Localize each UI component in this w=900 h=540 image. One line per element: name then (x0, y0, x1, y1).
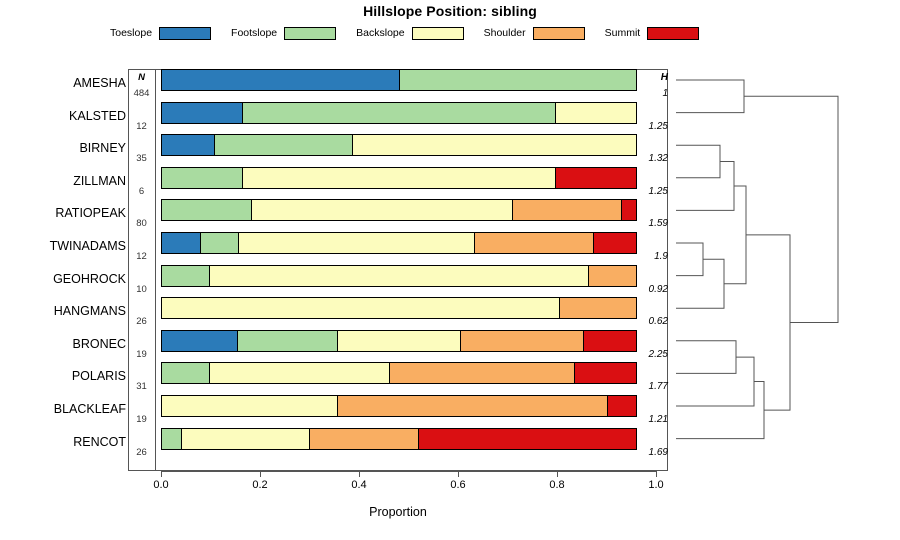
bar-segment-toeslope[interactable] (162, 70, 400, 90)
stacked-bar[interactable] (161, 199, 637, 221)
bar-segment-shoulder[interactable] (589, 266, 636, 286)
h-value: 1.21 (637, 414, 668, 425)
x-axis-tick-label: 0.6 (438, 479, 478, 491)
h-value: 1 (637, 88, 668, 99)
bar-row (161, 362, 637, 384)
bar-row (161, 330, 637, 352)
bar-segment-shoulder[interactable] (560, 298, 636, 318)
x-axis-tick (260, 471, 261, 477)
taxon-label: RATIOPEAK (6, 206, 126, 220)
bar-segment-backslope[interactable] (243, 168, 556, 188)
x-axis-tick (557, 471, 558, 477)
x-axis-tick-label: 0.0 (141, 479, 181, 491)
legend-label-backslope: Backslope (356, 27, 404, 39)
taxon-label: TWINADAMS (6, 239, 126, 253)
h-value: 1.9 (637, 251, 668, 262)
bar-segment-shoulder[interactable] (338, 396, 608, 416)
bar-segment-footslope[interactable] (400, 70, 637, 90)
bar-row (161, 134, 637, 156)
bar-segment-toeslope[interactable] (162, 233, 201, 253)
legend-label-shoulder: Shoulder (484, 27, 526, 39)
bar-row (161, 167, 637, 189)
h-value: 1.69 (637, 447, 668, 458)
bar-segment-backslope[interactable] (338, 331, 461, 351)
bar-row (161, 69, 637, 91)
legend-item-summit[interactable]: Summit (605, 27, 700, 40)
n-value: 80 (128, 218, 155, 229)
bar-segment-shoulder[interactable] (513, 200, 622, 220)
legend-swatch-toeslope (159, 27, 211, 40)
stacked-bar[interactable] (161, 69, 637, 91)
h-value: 0.62 (637, 316, 668, 327)
bar-segment-toeslope[interactable] (162, 103, 243, 123)
x-axis-tick (656, 471, 657, 477)
h-value: 1.25 (637, 121, 668, 132)
n-column-divider (155, 69, 156, 471)
n-value: 12 (128, 121, 155, 132)
stacked-bars (161, 69, 637, 471)
bar-row (161, 102, 637, 124)
legend: Toeslope Footslope Backslope Shoulder Su… (110, 24, 790, 42)
taxon-label: ZILLMAN (6, 174, 126, 188)
stacked-bar[interactable] (161, 297, 637, 319)
n-column-header: N (128, 72, 155, 83)
legend-item-toeslope[interactable]: Toeslope (110, 27, 211, 40)
bar-segment-footslope[interactable] (162, 363, 210, 383)
legend-item-footslope[interactable]: Footslope (231, 27, 336, 40)
bar-segment-shoulder[interactable] (475, 233, 594, 253)
bar-segment-backslope[interactable] (210, 266, 589, 286)
taxon-label: KALSTED (6, 109, 126, 123)
legend-swatch-footslope (284, 27, 336, 40)
bar-row (161, 232, 637, 254)
x-axis: 0.00.20.40.60.81.0 (128, 471, 668, 485)
legend-item-shoulder[interactable]: Shoulder (484, 27, 585, 40)
stacked-bar[interactable] (161, 330, 637, 352)
legend-item-backslope[interactable]: Backslope (356, 27, 463, 40)
bar-segment-shoulder[interactable] (461, 331, 584, 351)
taxon-label: GEOHROCK (6, 272, 126, 286)
n-value: 484 (128, 88, 155, 99)
bar-segment-backslope[interactable] (239, 233, 475, 253)
x-axis-tick (458, 471, 459, 477)
x-axis-tick-label: 1.0 (636, 479, 676, 491)
h-value: 1.59 (637, 218, 668, 229)
n-value: 10 (128, 284, 155, 295)
bar-segment-shoulder[interactable] (310, 429, 419, 449)
x-axis-tick (359, 471, 360, 477)
x-axis-title: Proportion (128, 505, 668, 519)
stacked-bar[interactable] (161, 265, 637, 287)
bar-segment-footslope[interactable] (162, 429, 182, 449)
bar-segment-toeslope[interactable] (162, 331, 238, 351)
legend-swatch-shoulder (533, 27, 585, 40)
legend-swatch-summit (647, 27, 699, 40)
bar-segment-toeslope[interactable] (162, 135, 215, 155)
bar-row (161, 199, 637, 221)
bar-segment-summit[interactable] (419, 429, 636, 449)
bar-row (161, 297, 637, 319)
x-axis-tick-label: 0.2 (240, 479, 280, 491)
bar-segment-summit[interactable] (575, 363, 636, 383)
bar-segment-shoulder[interactable] (390, 363, 575, 383)
bar-segment-backslope[interactable] (210, 363, 390, 383)
h-value: 1.77 (637, 381, 668, 392)
taxon-label-column: AMESHAKALSTEDBIRNEYZILLMANRATIOPEAKTWINA… (0, 69, 126, 471)
taxon-label: BIRNEY (6, 141, 126, 155)
bar-segment-footslope[interactable] (238, 331, 338, 351)
bar-segment-summit[interactable] (584, 331, 636, 351)
stacked-bar[interactable] (161, 362, 637, 384)
stacked-bar[interactable] (161, 428, 637, 450)
h-column-header: H (637, 72, 668, 83)
bar-segment-footslope[interactable] (201, 233, 240, 253)
stacked-bar[interactable] (161, 102, 637, 124)
h-column: H 11.251.321.251.591.90.920.622.251.771.… (637, 69, 668, 471)
bar-segment-summit[interactable] (608, 396, 636, 416)
h-value: 1.32 (637, 153, 668, 164)
taxon-label: AMESHA (6, 76, 126, 90)
stacked-bar[interactable] (161, 395, 637, 417)
bar-row (161, 428, 637, 450)
n-value: 31 (128, 381, 155, 392)
dendrogram (676, 69, 900, 471)
page-title: Hillslope Position: sibling (0, 3, 900, 19)
bar-segment-backslope[interactable] (556, 103, 636, 123)
bar-segment-summit[interactable] (622, 200, 636, 220)
bar-segment-footslope[interactable] (215, 135, 353, 155)
h-value: 0.92 (637, 284, 668, 295)
stacked-bar[interactable] (161, 167, 637, 189)
taxon-label: BRONEC (6, 337, 126, 351)
bar-segment-backslope[interactable] (162, 396, 338, 416)
n-value: 26 (128, 316, 155, 327)
x-axis-tick (161, 471, 162, 477)
legend-label-footslope: Footslope (231, 27, 277, 39)
bar-row (161, 265, 637, 287)
taxon-label: RENCOT (6, 435, 126, 449)
n-value: 26 (128, 447, 155, 458)
h-value: 2.25 (637, 349, 668, 360)
stacked-bar[interactable] (161, 134, 637, 156)
taxon-label: POLARIS (6, 369, 126, 383)
bar-segment-backslope[interactable] (252, 200, 512, 220)
n-value: 35 (128, 153, 155, 164)
n-value: 6 (128, 186, 155, 197)
bar-segment-backslope[interactable] (162, 298, 560, 318)
legend-label-toeslope: Toeslope (110, 27, 152, 39)
n-column: N 484123568012102619311926 (128, 69, 155, 471)
n-value: 12 (128, 251, 155, 262)
bar-segment-summit[interactable] (594, 233, 636, 253)
bar-segment-footslope[interactable] (243, 103, 556, 123)
bar-segment-backslope[interactable] (353, 135, 636, 155)
dendrogram-svg (676, 69, 900, 471)
bar-segment-footslope[interactable] (162, 168, 243, 188)
bar-segment-footslope[interactable] (162, 266, 210, 286)
legend-label-summit: Summit (605, 27, 641, 39)
bar-segment-footslope[interactable] (162, 200, 252, 220)
n-value: 19 (128, 349, 155, 360)
stacked-bar[interactable] (161, 232, 637, 254)
legend-swatch-backslope (412, 27, 464, 40)
n-value: 19 (128, 414, 155, 425)
x-axis-line (161, 471, 656, 472)
x-axis-tick-label: 0.4 (339, 479, 379, 491)
h-value: 1.25 (637, 186, 668, 197)
bar-row (161, 395, 637, 417)
taxon-label: BLACKLEAF (6, 402, 126, 416)
bar-segment-summit[interactable] (556, 168, 636, 188)
taxon-label: HANGMANS (6, 304, 126, 318)
x-axis-tick-label: 0.8 (537, 479, 577, 491)
bar-segment-backslope[interactable] (182, 429, 310, 449)
